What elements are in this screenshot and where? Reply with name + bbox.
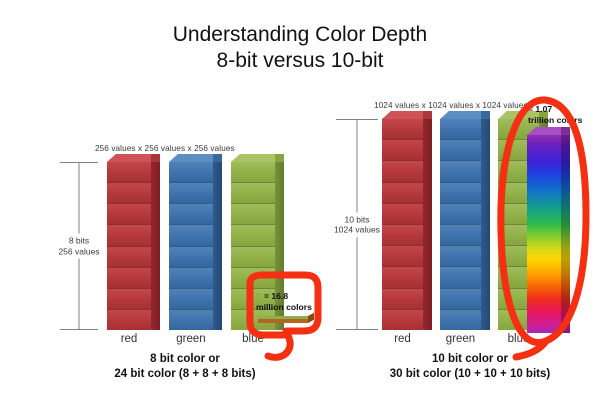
bar-segments [382, 119, 423, 330]
result-line-1: = 1.07 [528, 104, 552, 114]
axis-label-ten-bit: 10 bits 1024 values [333, 212, 381, 237]
axis-ten-bit: 10 bits 1024 values [336, 119, 378, 330]
result-line-2: trillion colors [528, 115, 582, 125]
rainbow-top-face [527, 127, 561, 135]
axis-label-line-1: 10 bits [344, 214, 369, 224]
flat-result-bar-eight-bit [258, 316, 308, 323]
caption-line-2: 24 bit color (8 + 8 + 8 bits) [40, 367, 330, 382]
axis-label-eight-bit: 8 bits 256 values [57, 234, 100, 259]
caption-line-2: 30 bit color (10 + 10 + 10 bits) [345, 367, 595, 382]
bar-side-face [213, 162, 222, 330]
bar-side-face [151, 162, 160, 330]
axis-label-line-2: 256 values [58, 246, 99, 256]
values-caption-eight-bit: 256 values x 256 values x 256 values [95, 144, 235, 153]
bar-ten-bit-red [382, 119, 423, 330]
bar-top-face [440, 111, 481, 119]
caption-ten-bit: 10 bit color or 30 bit color (10 + 10 + … [345, 352, 595, 382]
result-line-2: million colors [256, 302, 312, 312]
rainbow-side-face [561, 135, 570, 333]
bar-segments [440, 119, 481, 330]
page-title: Understanding Color Depth 8-bit versus 1… [0, 22, 600, 74]
caption-eight-bit: 8 bit color or 24 bit color (8 + 8 + 8 b… [40, 352, 330, 382]
title-line-2: 8-bit versus 10-bit [0, 48, 600, 74]
bar-top-face [231, 154, 275, 162]
title-line-1: Understanding Color Depth [0, 22, 600, 48]
channel-label-ten-bit-green: green [440, 333, 481, 345]
caption-line-1: 8 bit color or [40, 352, 330, 367]
bar-ten-bit-green [440, 119, 481, 330]
bar-eight-bit-red [107, 162, 151, 330]
caption-line-1: 10 bit color or [345, 352, 595, 367]
rainbow-gamut-column [527, 135, 561, 333]
infographic-canvas: Understanding Color Depth 8-bit versus 1… [0, 0, 600, 414]
channel-label-eight-bit-blue: blue [231, 333, 275, 345]
rainbow-front-face [527, 135, 561, 333]
result-line-1: = 16.8 [264, 291, 288, 301]
axis-eight-bit: 8 bits 256 values [60, 162, 98, 330]
bar-eight-bit-green [169, 162, 213, 330]
bar-side-face [423, 119, 432, 330]
result-callout-ten-bit: = 1.07 trillion colors [528, 104, 582, 126]
channel-label-ten-bit-red: red [382, 333, 423, 345]
bar-top-face [107, 154, 151, 162]
channel-label-ten-bit-blue: blue [498, 333, 539, 345]
values-caption-ten-bit: 1024 values x 1024 values x 1024 values [374, 101, 528, 110]
axis-label-line-2: 1024 values [334, 225, 380, 235]
bar-side-face [481, 119, 490, 330]
legend-swatch-icon [256, 293, 261, 298]
channel-label-eight-bit-green: green [169, 333, 213, 345]
channel-label-eight-bit-red: red [107, 333, 151, 345]
result-callout-eight-bit: = 16.8 million colors [256, 291, 312, 313]
bar-segments [107, 162, 151, 330]
axis-label-line-1: 8 bits [69, 236, 89, 246]
bar-segments [169, 162, 213, 330]
bar-top-face [169, 154, 213, 162]
bar-top-face [382, 111, 423, 119]
